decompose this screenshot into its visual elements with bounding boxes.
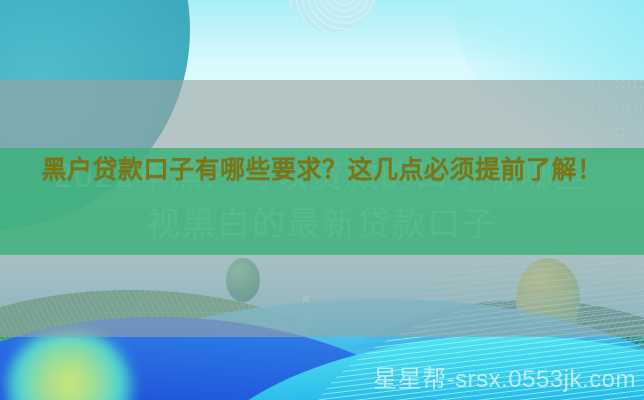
site-watermark: 星星帮-srsx.0553jk.com xyxy=(373,359,636,394)
page-title: 黑户贷款口子有哪些要求？这几点必须提前了解！ xyxy=(34,152,610,188)
cover-image: 2022年黑户可以贷款的口子有哪些 视黑白的最新贷款口子 黑户贷款口子有哪些要求… xyxy=(0,0,644,400)
halftone-dots-icon xyxy=(524,78,644,158)
